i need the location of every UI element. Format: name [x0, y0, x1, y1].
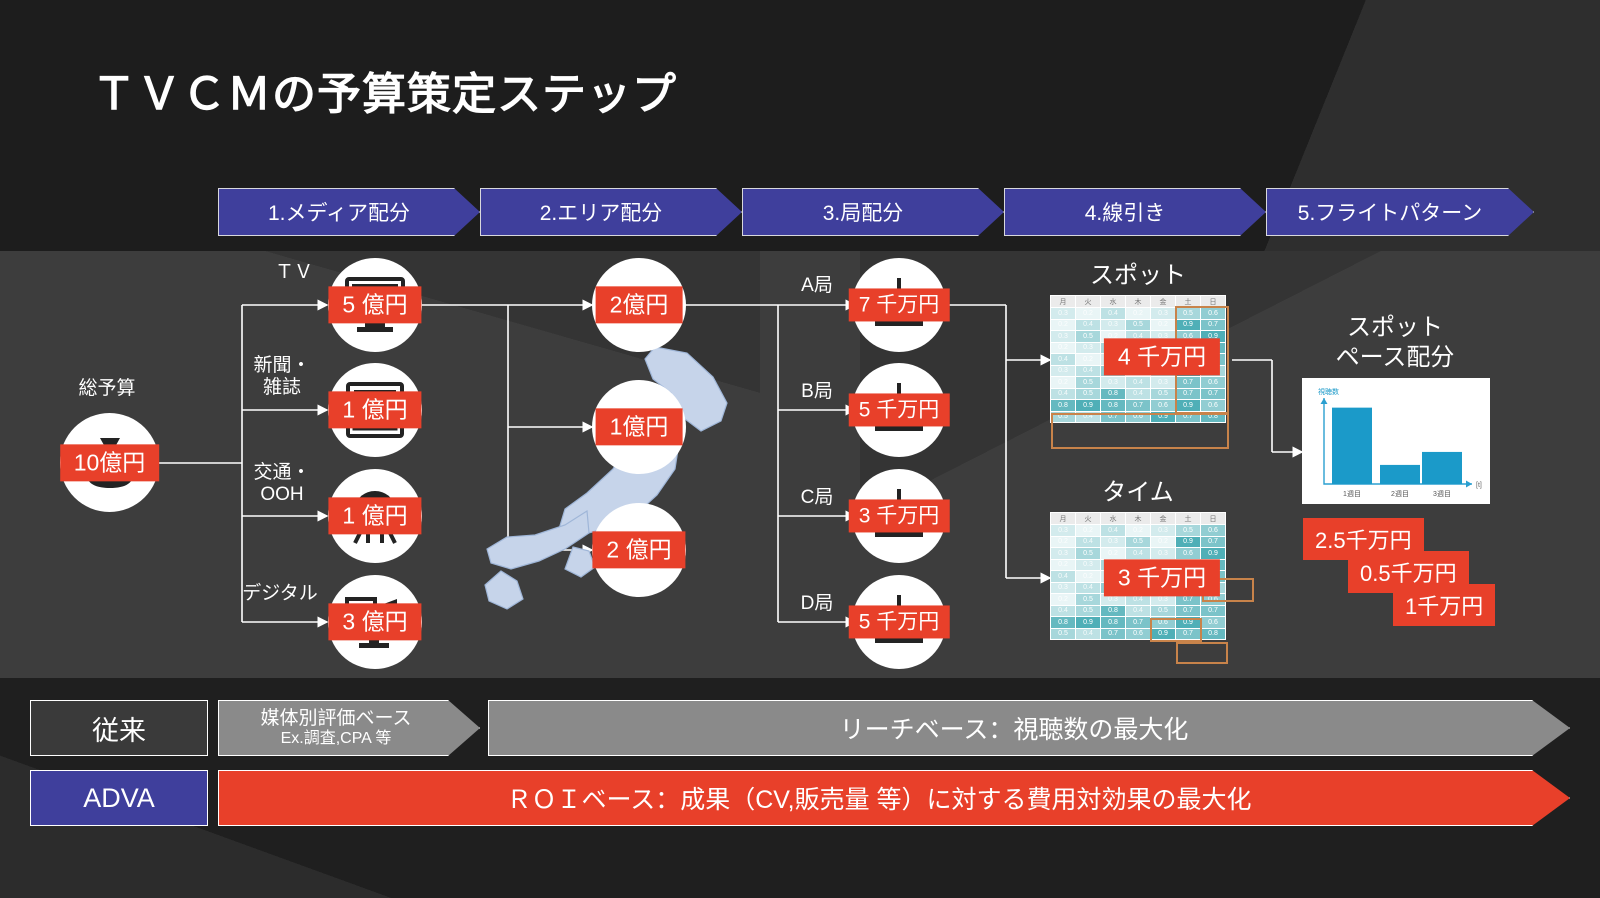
grid-cell[interactable]: 0.7: [1201, 605, 1226, 617]
grid-cell[interactable]: 0.4: [1101, 308, 1126, 320]
grid-cell[interactable]: 0.5: [1151, 388, 1176, 400]
grid-cell[interactable]: 0.7: [1176, 605, 1201, 617]
grid-row: 0.80.90.80.70.60.90.6: [1051, 617, 1226, 629]
pace-chart-title: スポット ペース配分: [1290, 313, 1500, 373]
grid-cell[interactable]: 0.4: [1126, 605, 1151, 617]
grid-cell[interactable]: 0.7: [1176, 377, 1201, 389]
total-budget-label: 総予算: [42, 378, 172, 400]
comparison-segment-line1: 媒体別評価ベース: [260, 708, 411, 730]
grid-cell[interactable]: 0.3: [1051, 331, 1076, 343]
grid-cell[interactable]: 0.7: [1176, 388, 1201, 400]
grid-cell[interactable]: 0.8: [1101, 388, 1126, 400]
comparison-adva-bar-text: ＲＯＩベース：成果（CV,販売量 等）に対する費用対効果の最大化: [506, 780, 1251, 816]
time-grid-panel: タイム 月火水木金土日0.30.20.40.20.30.50.60.20.40.…: [1050, 512, 1226, 640]
grid-cell[interactable]: 0.5: [1051, 411, 1076, 423]
comparison-legacy-name: 従来: [92, 709, 146, 748]
grid-cell[interactable]: 0.8: [1101, 605, 1126, 617]
step-chevron-4-label: 4.線引き: [1085, 197, 1166, 227]
grid-row: 0.40.50.80.40.50.70.7: [1051, 388, 1226, 400]
step-chevron-1[interactable]: 1.メディア配分: [218, 188, 480, 236]
grid-row: 0.30.50.20.40.30.60.9: [1051, 548, 1226, 560]
grid-row: 0.30.20.40.20.30.50.6: [1051, 308, 1226, 320]
pace-tick-2: 3週目: [1433, 489, 1451, 498]
grid-cell[interactable]: 0.9: [1201, 548, 1226, 560]
grid-cell[interactable]: 0.4: [1076, 582, 1101, 594]
grid-cell[interactable]: 0.6: [1151, 400, 1176, 412]
total-budget-node[interactable]: 10億円: [60, 413, 159, 512]
grid-header-0: 月: [1051, 296, 1076, 308]
grid-cell[interactable]: 0.3: [1101, 319, 1126, 331]
grid-cell[interactable]: 0.7: [1201, 388, 1226, 400]
grid-cell[interactable]: 0.7: [1126, 617, 1151, 629]
grid-cell[interactable]: 0.5: [1076, 388, 1101, 400]
grid-row: 0.20.50.30.40.30.70.6: [1051, 377, 1226, 389]
page-title: ＴＶＣＭの予算策定ステップ: [92, 58, 677, 122]
area-amount-3: 2 億円: [592, 531, 685, 568]
media-label-print: 新聞・ 雑誌: [236, 355, 328, 400]
station-node-c[interactable]: 3 千万円: [852, 469, 946, 563]
area-node-2[interactable]: 1億円: [592, 380, 686, 474]
station-label-a: A局: [786, 275, 848, 297]
grid-cell[interactable]: 0.2: [1051, 342, 1076, 354]
grid-cell[interactable]: 0.7: [1101, 411, 1126, 423]
grid-cell[interactable]: 0.8: [1051, 617, 1076, 629]
grid-cell[interactable]: 0.3: [1151, 377, 1176, 389]
grid-cell[interactable]: 0.5: [1076, 548, 1101, 560]
grid-header-1: 火: [1076, 296, 1101, 308]
station-label-d: D局: [786, 593, 848, 615]
grid-header-4: 金: [1151, 513, 1176, 525]
step-chevron-1-label: 1.メディア配分: [268, 197, 410, 227]
media-amount-tv: 5 億円: [328, 286, 421, 323]
time-grid-title: タイム: [1050, 472, 1226, 507]
grid-cell[interactable]: 0.9: [1076, 400, 1101, 412]
grid-cell[interactable]: 0.5: [1151, 605, 1176, 617]
grid-cell[interactable]: 0.3: [1151, 308, 1176, 320]
grid-cell[interactable]: 0.2: [1076, 354, 1101, 366]
grid-cell[interactable]: 0.5: [1176, 308, 1201, 320]
grid-cell[interactable]: 0.9: [1176, 617, 1201, 629]
pace-tick-0: 1週目: [1343, 489, 1361, 498]
grid-cell[interactable]: 0.3: [1076, 559, 1101, 571]
grid-header-6: 日: [1201, 296, 1226, 308]
media-label-tv: ＴＶ: [254, 262, 334, 284]
grid-cell[interactable]: 0.3: [1051, 548, 1076, 560]
grid-cell[interactable]: 0.3: [1101, 377, 1126, 389]
grid-cell[interactable]: 0.3: [1051, 525, 1076, 537]
grid-cell[interactable]: 0.7: [1201, 319, 1226, 331]
pace-bar-chart: 視聴数 1週目2週目3週目 [t]: [1302, 378, 1490, 504]
spot-amount: 4 千万円: [1104, 338, 1220, 375]
grid-header-3: 木: [1126, 513, 1151, 525]
comparison-segment-legacy: 媒体別評価ベース Ex.調査,CPA 等: [218, 700, 480, 756]
station-amount-b: 5 千万円: [849, 393, 950, 426]
grid-cell[interactable]: 0.7: [1176, 411, 1201, 423]
grid-cell[interactable]: 0.6: [1201, 377, 1226, 389]
media-amount-print: 1 億円: [328, 391, 421, 428]
grid-row: 0.40.50.80.40.50.70.7: [1051, 605, 1226, 617]
step-chevron-3[interactable]: 3.局配分: [742, 188, 1004, 236]
spot-grid-title: スポット: [1050, 255, 1226, 290]
grid-cell[interactable]: 0.3: [1051, 308, 1076, 320]
grid-row: 0.20.40.30.50.20.90.7: [1051, 536, 1226, 548]
pace-tick-1: 2週目: [1391, 489, 1409, 498]
media-node-ooh[interactable]: 1 億円: [328, 469, 422, 563]
comparison-bar-legacy: リーチベース：視聴数の最大化: [488, 700, 1570, 756]
station-label-c: C局: [786, 487, 848, 509]
grid-header-6: 日: [1201, 513, 1226, 525]
comparison-adva-name: ADVA: [83, 783, 155, 814]
grid-cell[interactable]: 0.2: [1051, 319, 1076, 331]
step-chevron-5-label: 5.フライトパターン: [1298, 197, 1482, 227]
area-amount-2: 1億円: [596, 408, 683, 445]
grid-cell[interactable]: 0.6: [1201, 525, 1226, 537]
grid-header-2: 水: [1101, 296, 1126, 308]
area-node-1[interactable]: 2億円: [592, 258, 686, 352]
comparison-segment-line2: Ex.調査,CPA 等: [281, 730, 392, 748]
media-label-digital: デジタル: [232, 583, 328, 605]
grid-cell[interactable]: 0.4: [1076, 536, 1101, 548]
grid-cell[interactable]: 0.3: [1076, 342, 1101, 354]
grid-cell[interactable]: 0.5: [1176, 525, 1201, 537]
grid-cell[interactable]: 0.7: [1201, 536, 1226, 548]
grid-row: 0.20.40.30.50.20.90.7: [1051, 319, 1226, 331]
station-node-a[interactable]: 7 千万円: [852, 258, 946, 352]
slide-canvas: ＴＶＣＭの予算策定ステップ 1.メディア配分 2.エリア配分 3.局配分 4.線…: [0, 0, 1600, 898]
grid-cell[interactable]: 0.6: [1201, 617, 1226, 629]
grid-cell[interactable]: 0.6: [1126, 411, 1151, 423]
grid-cell[interactable]: 0.2: [1051, 377, 1076, 389]
media-amount-digital: 3 億円: [328, 603, 421, 640]
comparison-label-legacy: 従来: [30, 700, 208, 756]
grid-cell[interactable]: 0.2: [1151, 319, 1176, 331]
total-budget-amount: 10億円: [60, 444, 160, 481]
area-amount-1: 2億円: [596, 286, 683, 323]
grid-cell[interactable]: 0.5: [1076, 377, 1101, 389]
grid-cell[interactable]: 0.4: [1126, 548, 1151, 560]
grid-cell[interactable]: 0.4: [1051, 571, 1076, 583]
grid-cell[interactable]: 0.4: [1076, 365, 1101, 377]
station-label-b: B局: [786, 381, 848, 403]
grid-cell[interactable]: 0.2: [1076, 308, 1101, 320]
pace-chart-ylabel: 視聴数: [1318, 387, 1339, 396]
station-node-d[interactable]: 5 千万円: [852, 575, 946, 669]
grid-cell[interactable]: 0.7: [1126, 400, 1151, 412]
pace-step-label-3: 1千万円: [1393, 584, 1495, 626]
grid-cell[interactable]: 0.2: [1076, 571, 1101, 583]
step-chevron-2-label: 2.エリア配分: [540, 197, 663, 227]
grid-cell[interactable]: 0.9: [1151, 411, 1176, 423]
media-amount-ooh: 1 億円: [328, 497, 421, 534]
grid-cell[interactable]: 0.3: [1151, 548, 1176, 560]
grid-cell[interactable]: 0.8: [1201, 628, 1226, 640]
grid-header-1: 火: [1076, 513, 1101, 525]
grid-cell[interactable]: 0.3: [1051, 582, 1076, 594]
station-amount-a: 7 千万円: [849, 288, 950, 321]
grid-cell[interactable]: 0.8: [1101, 617, 1126, 629]
grid-cell[interactable]: 0.5: [1126, 319, 1151, 331]
grid-cell[interactable]: 0.8: [1101, 400, 1126, 412]
grid-cell[interactable]: 0.6: [1201, 400, 1226, 412]
station-amount-c: 3 千万円: [849, 499, 950, 532]
grid-cell[interactable]: 0.2: [1076, 525, 1101, 537]
comparison-bar-adva: ＲＯＩベース：成果（CV,販売量 等）に対する費用対効果の最大化: [218, 770, 1570, 826]
grid-cell[interactable]: 0.9: [1176, 319, 1201, 331]
grid-cell[interactable]: 0.4: [1051, 388, 1076, 400]
station-amount-d: 5 千万円: [849, 605, 950, 638]
grid-cell[interactable]: 0.9: [1176, 400, 1201, 412]
grid-cell[interactable]: 0.7: [1176, 628, 1201, 640]
grid-cell[interactable]: 0.6: [1201, 308, 1226, 320]
grid-cell[interactable]: 0.3: [1151, 525, 1176, 537]
grid-cell[interactable]: 0.8: [1051, 400, 1076, 412]
step-chevron-5[interactable]: 5.フライトパターン: [1266, 188, 1534, 236]
media-label-ooh: 交通・ OOH: [236, 462, 328, 507]
grid-cell[interactable]: 0.6: [1176, 548, 1201, 560]
grid-header-5: 土: [1176, 513, 1201, 525]
step-chevron-3-label: 3.局配分: [823, 197, 904, 227]
grid-cell[interactable]: 0.5: [1126, 536, 1151, 548]
grid-header-3: 木: [1126, 296, 1151, 308]
grid-cell[interactable]: 0.4: [1126, 388, 1151, 400]
grid-cell[interactable]: 0.6: [1126, 628, 1151, 640]
grid-cell[interactable]: 0.9: [1151, 628, 1176, 640]
grid-cell[interactable]: 0.5: [1051, 628, 1076, 640]
grid-cell[interactable]: 0.4: [1051, 354, 1076, 366]
grid-cell[interactable]: 0.2: [1151, 536, 1176, 548]
grid-cell[interactable]: 0.4: [1076, 319, 1101, 331]
step-chevron-2[interactable]: 2.エリア配分: [480, 188, 742, 236]
grid-cell[interactable]: 0.5: [1076, 331, 1101, 343]
grid-cell[interactable]: 0.4: [1126, 377, 1151, 389]
grid-cell[interactable]: 0.4: [1076, 628, 1101, 640]
step-chevron-4[interactable]: 4.線引き: [1004, 188, 1266, 236]
grid-row: 0.30.20.40.20.30.50.6: [1051, 525, 1226, 537]
grid-cell[interactable]: 0.7: [1101, 628, 1126, 640]
media-node-digital[interactable]: 3 億円: [328, 575, 422, 669]
pace-bar-2: [1422, 452, 1462, 484]
grid-cell[interactable]: 0.3: [1051, 365, 1076, 377]
grid-cell[interactable]: 0.2: [1101, 548, 1126, 560]
grid-cell[interactable]: 0.2: [1126, 308, 1151, 320]
grid-cell[interactable]: 0.3: [1101, 536, 1126, 548]
media-node-print[interactable]: 1 億円: [328, 363, 422, 457]
grid-cell[interactable]: 0.4: [1076, 411, 1101, 423]
grid-cell[interactable]: 0.5: [1076, 605, 1101, 617]
grid-header-4: 金: [1151, 296, 1176, 308]
station-node-b[interactable]: 5 千万円: [852, 363, 946, 457]
grid-row: 0.50.40.70.60.90.70.8: [1051, 628, 1226, 640]
spot-grid-panel: スポット 月火水木金土日0.30.20.40.20.30.50.60.20.40…: [1050, 295, 1226, 423]
grid-cell[interactable]: 0.9: [1076, 617, 1101, 629]
grid-cell[interactable]: 0.6: [1151, 617, 1176, 629]
grid-cell[interactable]: 0.2: [1051, 594, 1076, 606]
media-node-tv[interactable]: 5 億円: [328, 258, 422, 352]
grid-header-2: 水: [1101, 513, 1126, 525]
comparison-label-adva: ADVA: [30, 770, 208, 826]
grid-cell[interactable]: 0.2: [1051, 559, 1076, 571]
pace-chart-panel[interactable]: 視聴数 1週目2週目3週目 [t]: [1302, 378, 1490, 504]
grid-cell[interactable]: 0.2: [1051, 536, 1076, 548]
time-amount: 3 千万円: [1104, 559, 1220, 596]
grid-header-5: 土: [1176, 296, 1201, 308]
pace-chart-xlabel: [t]: [1476, 482, 1482, 489]
grid-cell[interactable]: 0.5: [1076, 594, 1101, 606]
grid-header-0: 月: [1051, 513, 1076, 525]
grid-cell[interactable]: 0.2: [1126, 525, 1151, 537]
pace-bar-0: [1332, 408, 1372, 484]
grid-row: 0.80.90.80.70.60.90.6: [1051, 400, 1226, 412]
pace-bar-1: [1380, 465, 1420, 484]
grid-cell[interactable]: 0.4: [1101, 525, 1126, 537]
grid-cell[interactable]: 0.8: [1201, 411, 1226, 423]
comparison-legacy-bar-text: リーチベース：視聴数の最大化: [840, 710, 1189, 746]
grid-cell[interactable]: 0.9: [1176, 536, 1201, 548]
area-node-3[interactable]: 2 億円: [592, 503, 686, 597]
grid-cell[interactable]: 0.4: [1051, 605, 1076, 617]
grid-row: 0.50.40.70.60.90.70.8: [1051, 411, 1226, 423]
